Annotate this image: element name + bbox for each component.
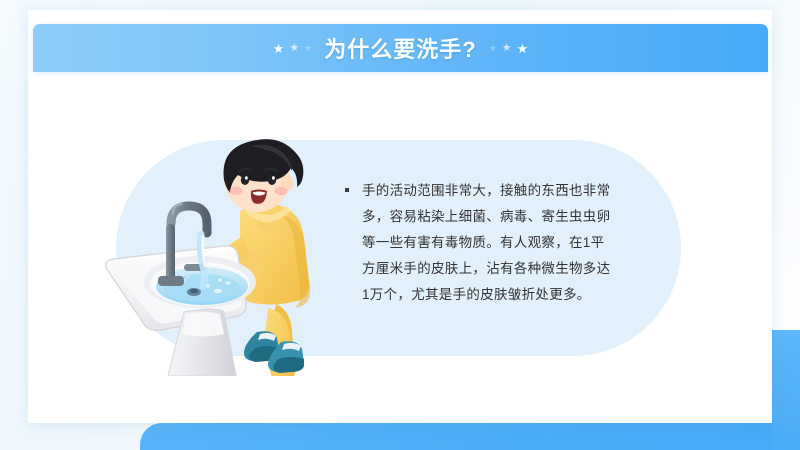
- title-inner: ★ ★ ★ 为什么要洗手? ★ ★ ★: [273, 32, 529, 64]
- star-icon: ★: [273, 42, 285, 55]
- star-icon: ★: [304, 44, 312, 53]
- right-stars-decoration: ★ ★ ★: [477, 42, 529, 55]
- left-stars-decoration: ★ ★ ★: [273, 42, 325, 55]
- body-line: 1万个，尤其是手的皮肤皱折处更多。: [362, 282, 610, 308]
- star-icon: ★: [517, 42, 529, 55]
- body-line: 手的活动范围非常大，接触的东西也非常: [362, 178, 610, 204]
- title-bar: ★ ★ ★ 为什么要洗手? ★ ★ ★: [33, 24, 768, 72]
- star-icon: ★: [289, 43, 299, 54]
- body-line: 等一些有害有毒物质。有人观察，在1平: [362, 230, 610, 256]
- body-text-block: 手的活动范围非常大，接触的东西也非常 多，容易粘染上细菌、病毒、寄生虫虫卵 等一…: [345, 178, 665, 308]
- page-title: 为什么要洗手?: [324, 32, 476, 64]
- bullet-icon: [345, 188, 349, 192]
- right-decoration-edge: [772, 330, 800, 450]
- body-paragraph: 手的活动范围非常大，接触的东西也非常 多，容易粘染上细菌、病毒、寄生虫虫卵 等一…: [362, 178, 610, 308]
- body-line: 多，容易粘染上细菌、病毒、寄生虫虫卵: [362, 204, 610, 230]
- slide-root: ★ ★ ★ 为什么要洗手? ★ ★ ★: [0, 0, 800, 450]
- star-icon: ★: [489, 44, 497, 53]
- body-line: 方厘米手的皮肤上，沾有各种微生物多达: [362, 256, 610, 282]
- bottom-decoration-bar: [140, 423, 800, 450]
- star-icon: ★: [502, 43, 512, 54]
- handwashing-illustration: [100, 128, 350, 376]
